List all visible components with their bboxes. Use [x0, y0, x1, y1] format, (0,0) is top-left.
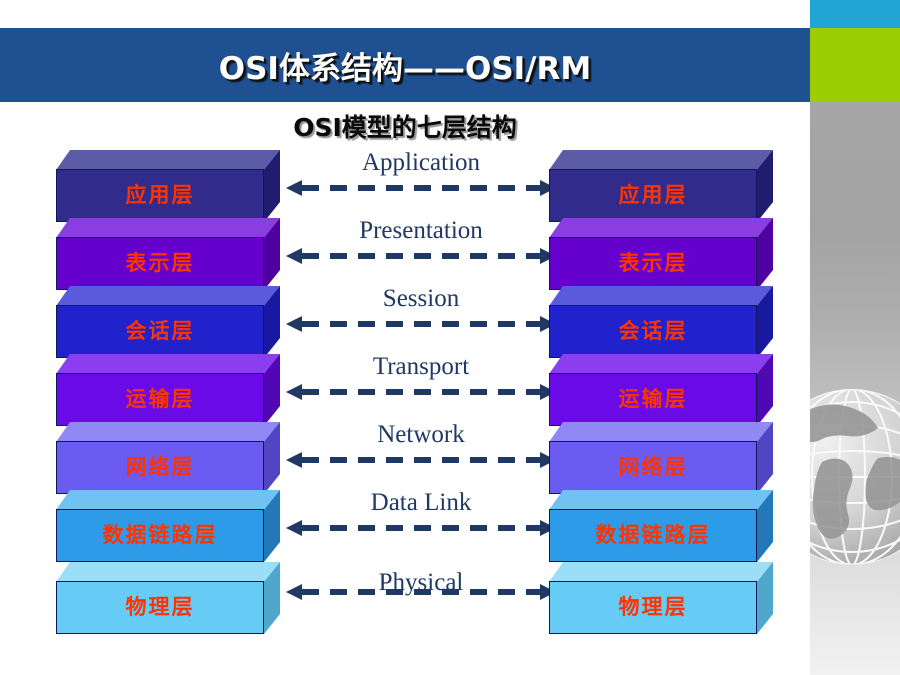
globe-photo-panel	[810, 102, 900, 675]
layer-top-face	[56, 490, 280, 510]
osi-layer-label: 表示层	[619, 252, 688, 273]
osi-layer-session-right[interactable]: 会话层	[549, 286, 759, 358]
layer-top-face	[56, 286, 280, 306]
osi-layer-label: 物理层	[619, 596, 688, 617]
peer-protocol-arrow	[286, 452, 556, 468]
osi-protocol-row-application: Application	[282, 150, 560, 218]
osi-layer-application-right[interactable]: 应用层	[549, 150, 759, 222]
peer-protocol-arrow	[286, 384, 556, 400]
layer-top-face	[56, 562, 280, 582]
peer-protocol-arrow	[286, 180, 556, 196]
osi-protocol-row-session: Session	[282, 286, 560, 354]
osi-layer-presentation-right[interactable]: 表示层	[549, 218, 759, 290]
osi-protocol-row-transport: Transport	[282, 354, 560, 422]
osi-english-label: Transport	[282, 352, 560, 382]
layer-top-face	[549, 562, 773, 582]
peer-protocol-arrow	[286, 520, 556, 536]
wireframe-globe-icon	[810, 362, 900, 592]
layer-top-face	[549, 354, 773, 374]
layer-front-face: 应用层	[549, 169, 757, 222]
right-decoration-rail	[810, 0, 900, 675]
layer-front-face: 运输层	[56, 373, 264, 426]
osi-english-label: Network	[282, 420, 560, 450]
osi-layer-label: 数据链路层	[596, 524, 711, 545]
osi-layer-label: 数据链路层	[103, 524, 218, 545]
rail-green-block	[810, 28, 900, 102]
layer-front-face: 物理层	[56, 581, 264, 634]
osi-layer-label: 应用层	[619, 184, 688, 205]
title-banner: OSI体系结构——OSI/RM	[0, 28, 810, 102]
osi-layer-datalink-right[interactable]: 数据链路层	[549, 490, 759, 562]
osi-layer-label: 运输层	[619, 388, 688, 409]
osi-layer-session-left[interactable]: 会话层	[56, 286, 266, 358]
osi-stack-right: 应用层 表示层 会话层 运输层 网络层 数据链路层	[549, 150, 781, 650]
osi-layer-label: 网络层	[619, 456, 688, 477]
osi-layer-label: 表示层	[126, 252, 195, 273]
osi-protocol-row-presentation: Presentation	[282, 218, 560, 286]
layer-front-face: 物理层	[549, 581, 757, 634]
layer-top-face	[549, 218, 773, 238]
layer-top-face	[549, 286, 773, 306]
layer-front-face: 网络层	[56, 441, 264, 494]
peer-protocol-arrow	[286, 316, 556, 332]
osi-english-label: Presentation	[282, 216, 560, 246]
layer-front-face: 网络层	[549, 441, 757, 494]
osi-layer-label: 物理层	[126, 596, 195, 617]
osi-layer-label: 会话层	[126, 320, 195, 341]
osi-english-label: Session	[282, 284, 560, 314]
osi-layer-network-left[interactable]: 网络层	[56, 422, 266, 494]
osi-layer-presentation-left[interactable]: 表示层	[56, 218, 266, 290]
osi-english-label: Data Link	[282, 488, 560, 518]
layer-front-face: 数据链路层	[56, 509, 264, 562]
osi-layer-transport-right[interactable]: 运输层	[549, 354, 759, 426]
osi-protocol-row-physical: Physical	[282, 554, 560, 622]
osi-stack-left: 应用层 表示层 会话层 运输层 网络层 数据链路层	[56, 150, 288, 650]
page-subtitle: OSI模型的七层结构	[0, 108, 810, 144]
osi-layer-application-left[interactable]: 应用层	[56, 150, 266, 222]
layer-top-face	[56, 150, 280, 170]
osi-layer-label: 会话层	[619, 320, 688, 341]
peer-protocol-arrow	[286, 248, 556, 264]
layer-front-face: 表示层	[56, 237, 264, 290]
rail-cyan-block	[810, 0, 900, 28]
layer-front-face: 表示层	[549, 237, 757, 290]
layer-front-face: 应用层	[56, 169, 264, 222]
layer-front-face: 会话层	[549, 305, 757, 358]
layer-front-face: 会话层	[56, 305, 264, 358]
layer-front-face: 数据链路层	[549, 509, 757, 562]
layer-top-face	[56, 354, 280, 374]
osi-layer-datalink-left[interactable]: 数据链路层	[56, 490, 266, 562]
osi-english-label: Application	[282, 148, 560, 178]
layer-top-face	[549, 490, 773, 510]
osi-protocol-row-datalink: Data Link	[282, 490, 560, 558]
osi-layer-physical-right[interactable]: 物理层	[549, 562, 759, 634]
peer-protocol-arrow	[286, 584, 556, 600]
osi-layer-label: 应用层	[126, 184, 195, 205]
osi-layer-transport-left[interactable]: 运输层	[56, 354, 266, 426]
osi-layer-physical-left[interactable]: 物理层	[56, 562, 266, 634]
layer-front-face: 运输层	[549, 373, 757, 426]
osi-layer-network-right[interactable]: 网络层	[549, 422, 759, 494]
layer-top-face	[56, 422, 280, 442]
osi-protocol-row-network: Network	[282, 422, 560, 490]
osi-layer-label: 网络层	[126, 456, 195, 477]
layer-top-face	[56, 218, 280, 238]
layer-top-face	[549, 422, 773, 442]
osi-layer-label: 运输层	[126, 388, 195, 409]
osi-center-column: Application Presentation Session	[282, 150, 560, 650]
page-title: OSI体系结构——OSI/RM	[0, 28, 810, 102]
layer-top-face	[549, 150, 773, 170]
